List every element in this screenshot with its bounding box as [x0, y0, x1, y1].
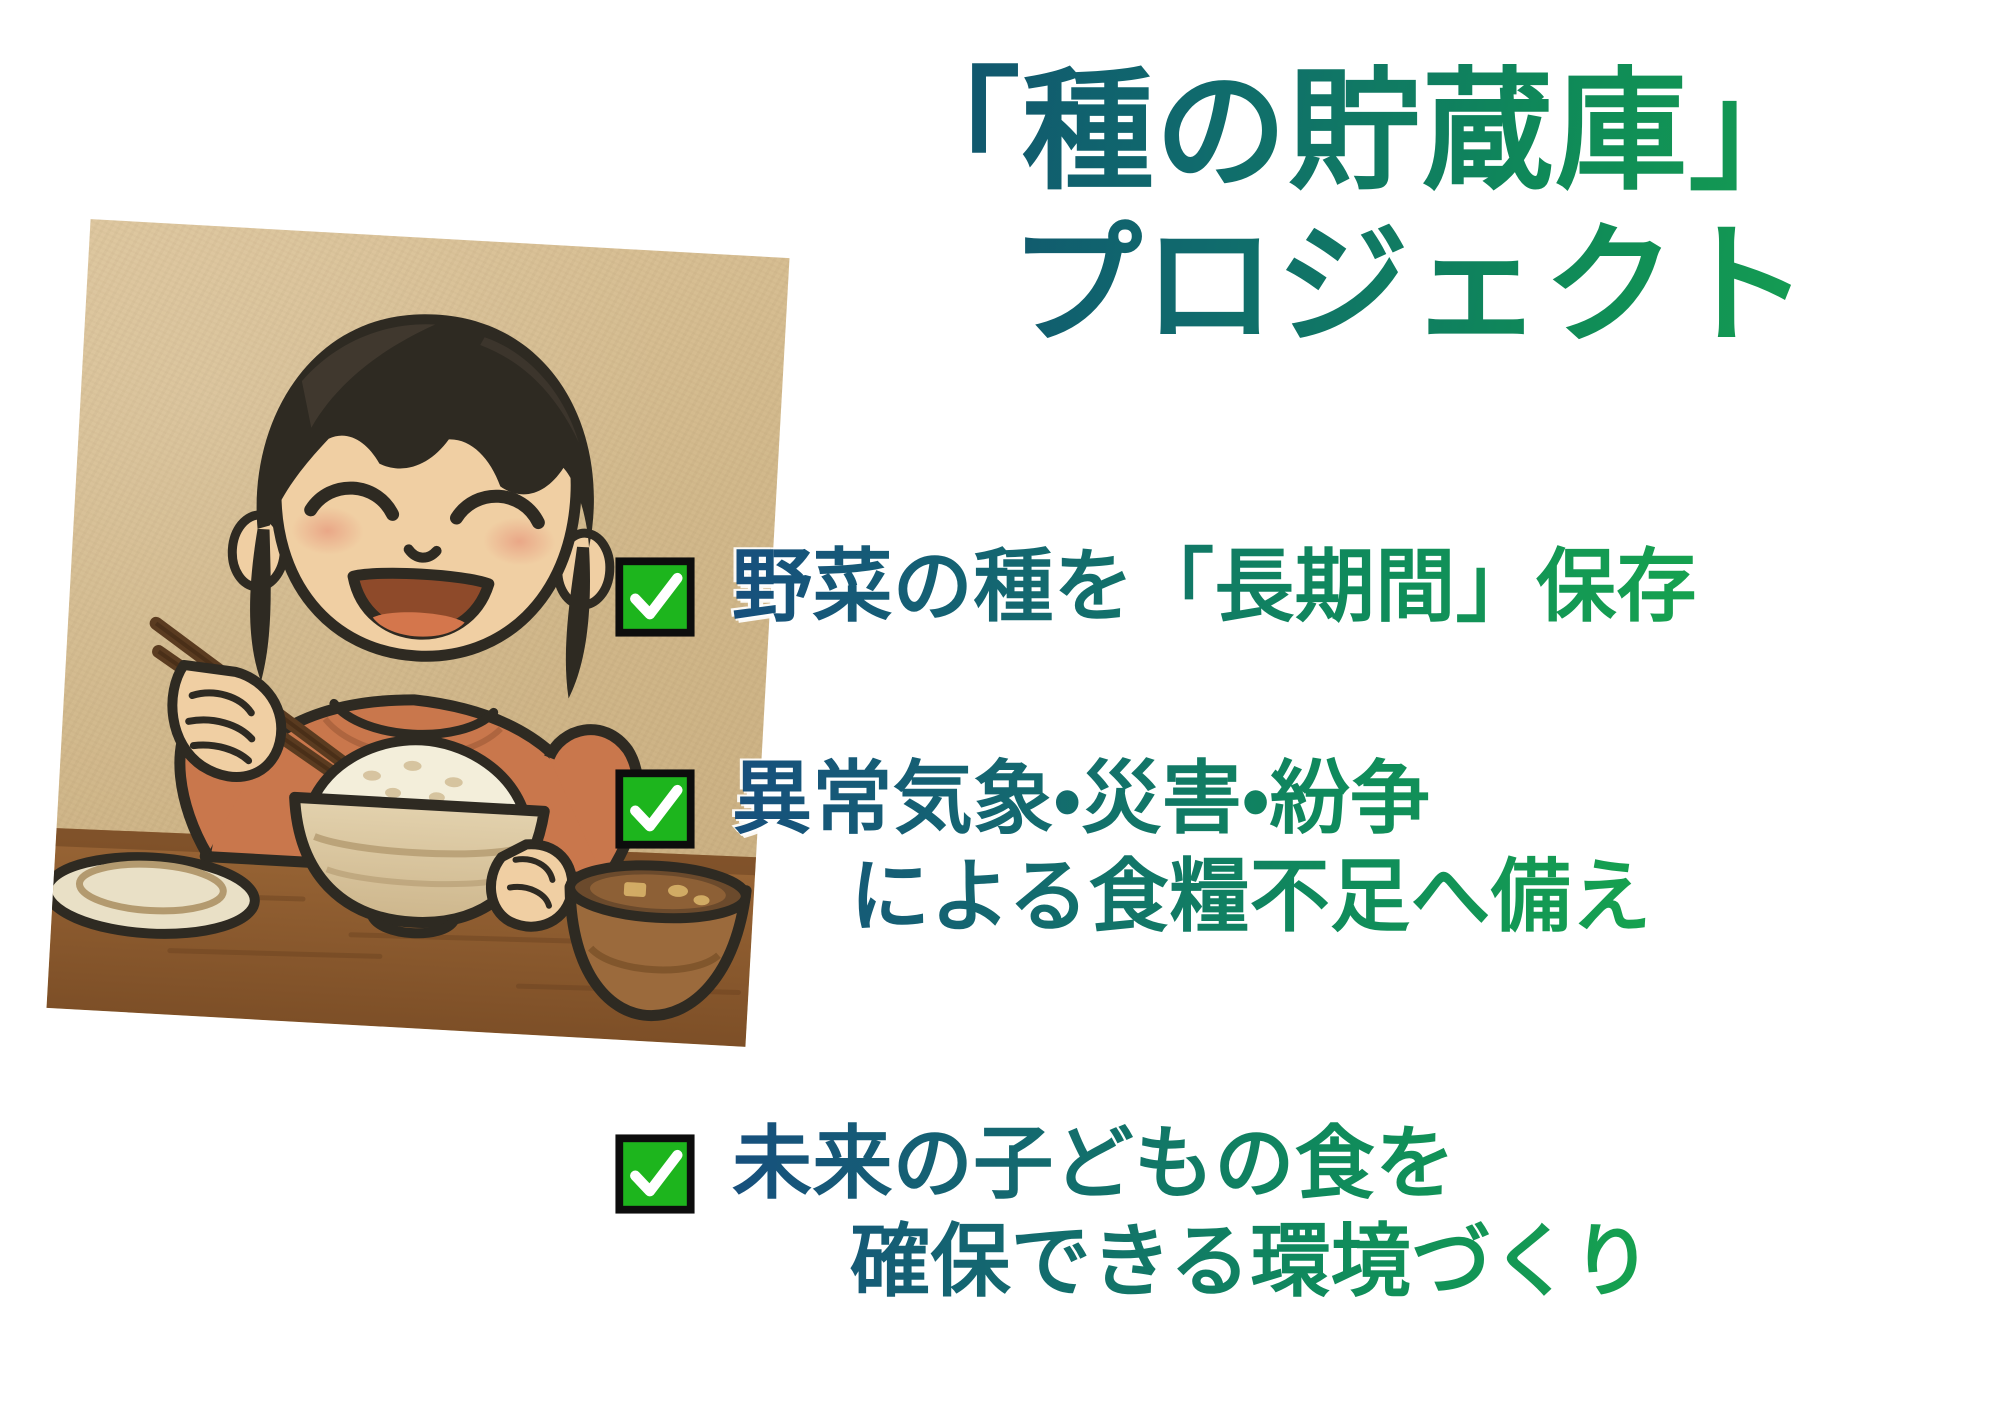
- title-line-1: 「種の貯蔵庫」: [740, 58, 1970, 206]
- bullet-text-2: 異常気象・災害・紛争 による食糧不足へ備え: [732, 750, 1652, 945]
- bullet-item-1: 野菜の種を「長期間」保存: [612, 538, 1992, 640]
- bullet-1-line-1: 野菜の種を「長期間」保存: [732, 539, 1697, 633]
- bullet-item-3: 未来の子どもの食を 確保できる環境づくり: [612, 1115, 1992, 1310]
- title-line-2: プロジェクト: [740, 212, 1970, 360]
- checked-checkbox-icon[interactable]: [612, 1131, 698, 1217]
- bullet-item-2: 異常気象・災害・紛争 による食糧不足へ備え: [612, 750, 1992, 945]
- poster-canvas: 「種の貯蔵庫」 プロジェクト 野菜の種を「長期間」保存: [0, 0, 2001, 1416]
- bullet-2-line-1: 異常気象・災害・紛争: [732, 751, 1430, 845]
- bullet-list: 野菜の種を「長期間」保存 異常気象・災害・紛争 による食糧不足へ備え: [612, 538, 1992, 1310]
- bullet-text-3: 未来の子どもの食を 確保できる環境づくり: [732, 1115, 1652, 1310]
- right-hand: [489, 842, 575, 929]
- checked-checkbox-icon[interactable]: [612, 554, 698, 640]
- checked-checkbox-icon[interactable]: [612, 766, 698, 852]
- poster-title: 「種の貯蔵庫」 プロジェクト: [740, 58, 1970, 360]
- bullet-3-line-2: 確保できる環境づくり: [732, 1213, 1652, 1311]
- bullet-text-1: 野菜の種を「長期間」保存: [732, 538, 1697, 636]
- girl-head: [225, 304, 623, 701]
- bullet-3-line-1: 未来の子どもの食を: [732, 1116, 1456, 1210]
- bullet-2-line-2: による食糧不足へ備え: [732, 848, 1652, 946]
